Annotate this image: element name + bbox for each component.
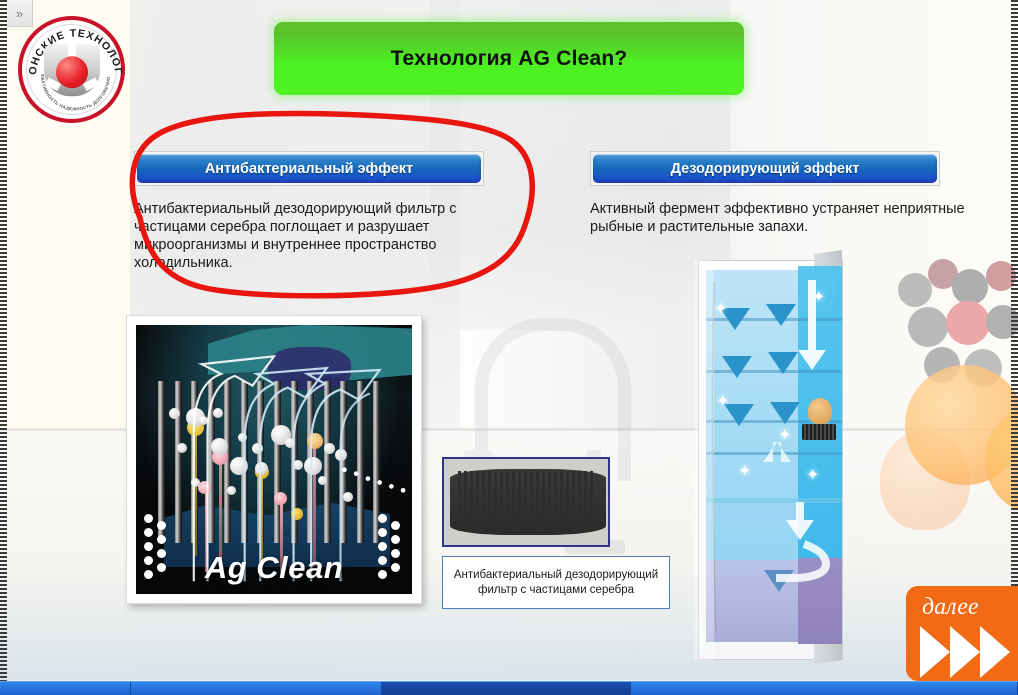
fridge-food-item [808, 398, 832, 424]
dot-pattern-right [378, 514, 404, 584]
taskbar-item-1[interactable] [0, 682, 131, 695]
filter-caption-text: Антибактериальный дезодорирующий фильтр … [443, 568, 669, 597]
chevron-right-icon-3 [980, 626, 1010, 678]
chevron-right-icon-1 [920, 626, 950, 678]
page-title: Технология AG Clean? [391, 47, 628, 71]
tab-antibacterial-label: Антибактериальный эффект [205, 161, 413, 177]
refrigerator-airflow-diagram: ✦ ✦ ✦ ✦ ✦ ✦ [686, 252, 861, 672]
ag-clean-wordmark: Ag Clean [205, 550, 343, 586]
ag-clean-illustration: Ag Clean [126, 315, 422, 604]
left-edge-rail [0, 0, 7, 695]
taskbar-item-3-active[interactable] [382, 682, 631, 695]
silver-filter-photo [442, 457, 610, 547]
tab-deodorizing-effect[interactable]: Дезодорирующий эффект [590, 151, 940, 186]
dot-pattern-left [144, 514, 170, 584]
taskbar-item-4[interactable] [631, 682, 1018, 695]
antibacterial-description: Антибактериальный дезодорирующий фильтр … [134, 200, 504, 272]
tab-antibacterial-effect[interactable]: Антибактериальный эффект [134, 151, 484, 186]
tab-deodorizing-label: Дезодорирующий эффект [671, 161, 860, 177]
next-button-label: далее [922, 594, 979, 621]
chevron-right-icon-2 [950, 626, 980, 678]
taskbar[interactable] [0, 681, 1018, 695]
taskbar-item-2[interactable] [131, 682, 382, 695]
fridge-airflow-arrows-icon [686, 252, 861, 672]
next-button[interactable]: далее [906, 586, 1018, 681]
slide-title-banner: Технология AG Clean? [274, 22, 744, 95]
filter-caption-box: Антибактериальный дезодорирующий фильтр … [442, 556, 670, 609]
logo-emblem-icon [44, 44, 100, 100]
deodorizing-description: Активный фермент эффективно устраняет не… [590, 200, 970, 236]
slide-canvas: » ЯПОНСКИЕ ТЕХНОЛОГИИ ЭФФЕКТИВНОСТЬ НАДЕ… [0, 0, 1018, 695]
fridge-filter-element [802, 424, 836, 440]
japanese-technologies-logo: ЯПОНСКИЕ ТЕХНОЛОГИИ ЭФФЕКТИВНОСТЬ НАДЕЖН… [18, 16, 125, 123]
